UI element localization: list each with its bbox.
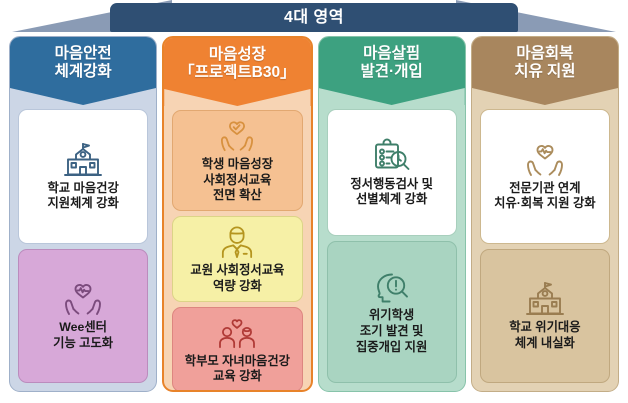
column-header-title: 마음살핌 발견·개입 [361,45,423,81]
card-label: 정서행동검사 및 선별체계 강화 [350,177,433,208]
card-label: 학생 마음성장 사회정서교육 전면 확산 [202,157,273,204]
header-notch-icon [164,89,310,106]
hands-holding-heart-pulse-icon [523,141,567,179]
column-mind-safety[interactable]: 마음안전 체계강화 학교 마음건강 지원체계 강 [9,36,157,392]
head-magnifier-alert-icon [371,268,413,306]
banner: 4대 영역 [0,0,628,36]
card-wee-center[interactable]: Wee센터 기능 고도화 [18,249,148,384]
column-header-mind-screening: 마음살핌 발견·개입 [319,37,465,105]
column-mind-screening[interactable]: 마음살핌 발견·개입 정서행동검사 및 선별체계 [318,36,466,392]
card-school-crisis-response[interactable]: 학교 위기대응 체계 내실화 [480,249,610,384]
card-label: 학교 마음건강 지원체계 강화 [47,181,118,212]
column-header-mind-recovery: 마음회복 치유 지원 [472,37,618,105]
column-mind-growth[interactable]: 마음성장 「프로젝트B30」 학생 마음성장 사회정서교육 전면 확산 [162,36,312,392]
column-body: 전문기관 연계 치유·회복 지원 강화 학교 위기대응 체계 내실화 [472,105,618,391]
card-professional-institution-link[interactable]: 전문기관 연계 치유·회복 지원 강화 [480,109,610,244]
card-label: 전문기관 연계 치유·회복 지원 강화 [494,181,595,212]
teacher-person-icon [218,223,256,261]
header-notch-icon [472,88,618,105]
column-header-mind-growth: 마음성장 「프로젝트B30」 [164,38,310,106]
column-body: 정서행동검사 및 선별체계 강화 위기학생 조기 발견 및 집중개입 지원 [319,105,465,391]
column-body: 학교 마음건강 지원체계 강화 Wee센터 기능 고도화 [10,105,156,391]
column-mind-recovery[interactable]: 마음회복 치유 지원 전문기관 연계 치유·회복 지원 강화 [471,36,619,392]
header-notch-icon [10,88,156,105]
card-school-mental-health[interactable]: 학교 마음건강 지원체계 강화 [18,109,148,244]
hands-holding-heart-pulse-icon [61,280,105,318]
card-crisis-student-detection[interactable]: 위기학생 조기 발견 및 집중개입 지원 [327,241,457,383]
hands-holding-heart-icon [216,117,258,155]
card-label: Wee센터 기능 고도화 [53,320,113,351]
columns-container: 마음안전 체계강화 학교 마음건강 지원체계 강 [0,36,628,396]
card-label: 위기학생 조기 발견 및 집중개입 지원 [356,308,427,355]
header-notch-icon [319,88,465,105]
banner-title: 4대 영역 [284,10,344,26]
column-header-title: 마음성장 「프로젝트B30」 [179,46,295,82]
card-label: 교원 사회정서교육 역량 강화 [190,263,284,294]
card-label: 학교 위기대응 체계 내실화 [509,320,580,351]
card-label: 학부모 자녀마음건강 교육 강화 [185,354,290,385]
clipboard-magnifier-icon [371,137,413,175]
school-building-icon [61,141,105,179]
card-student-social-emotional[interactable]: 학생 마음성장 사회정서교육 전면 확산 [172,110,302,211]
column-header-mind-safety: 마음안전 체계강화 [10,37,156,105]
column-header-title: 마음안전 체계강화 [55,45,112,81]
card-teacher-capacity[interactable]: 교원 사회정서교육 역량 강화 [172,216,302,301]
banner-plate: 4대 영역 [110,3,518,32]
column-body: 학생 마음성장 사회정서교육 전면 확산 교원 사회정서교육 역량 강화 [164,106,310,392]
column-header-title: 마음회복 치유 지원 [514,45,575,81]
parent-child-heart-icon [215,314,259,352]
card-emotional-behavior-test[interactable]: 정서행동검사 및 선별체계 강화 [327,109,457,236]
school-building-icon [523,280,567,318]
card-parent-education[interactable]: 학부모 자녀마음건강 교육 강화 [172,307,302,392]
